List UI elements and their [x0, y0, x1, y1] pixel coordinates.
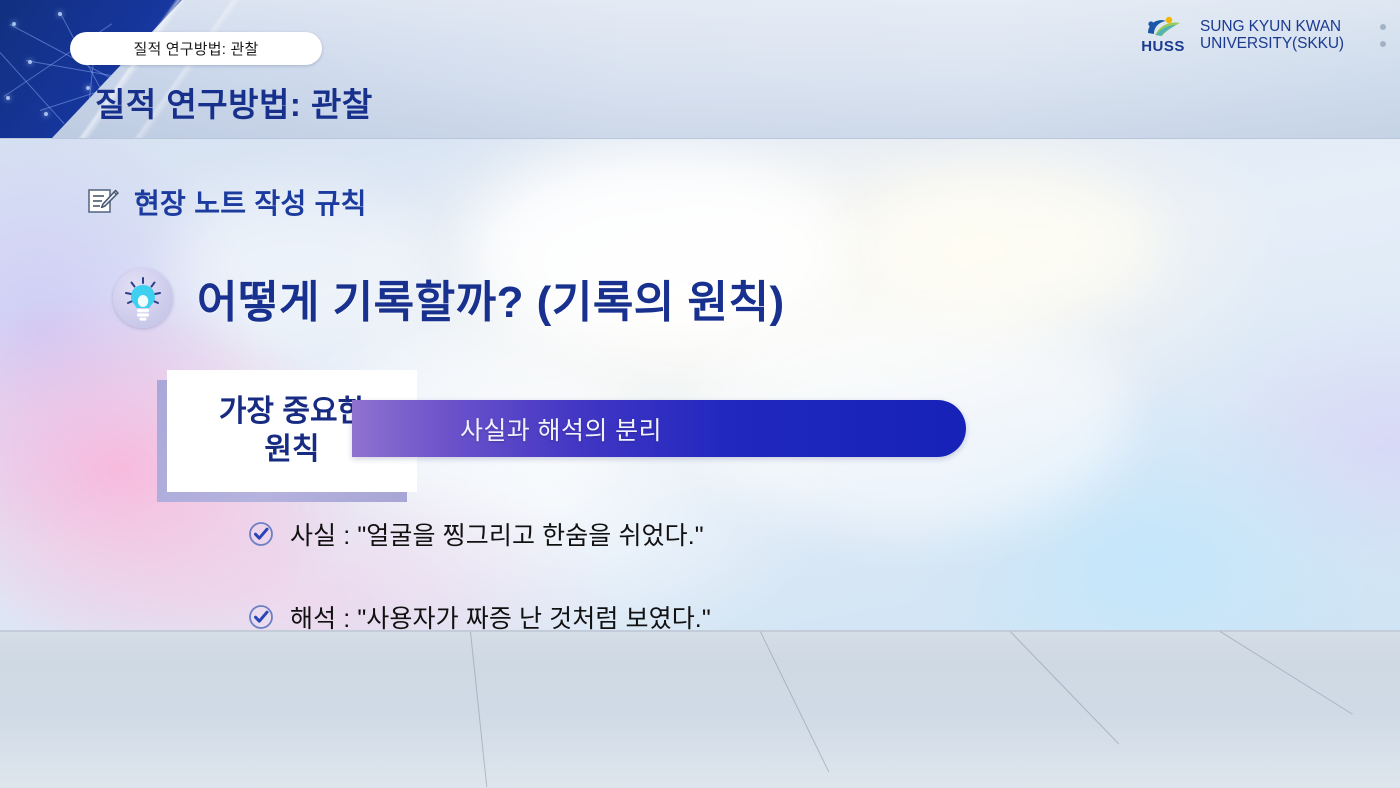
logo-mark: HUSS — [1136, 16, 1190, 54]
main-title-row: 어떻게 기록할까? (기록의 원칙) — [113, 266, 785, 330]
list-item-label: 사실 : "얼굴을 찡그리고 한숨을 쉬었다." — [290, 516, 704, 552]
principle-banner: 사실과 해석의 분리 — [352, 400, 966, 457]
breadcrumb-label: 질적 연구방법: 관찰 — [133, 38, 258, 59]
list-item-label: 해석 : "사용자가 짜증 난 것처럼 보였다." — [290, 599, 711, 635]
section-heading-label: 현장 노트 작성 규칙 — [134, 182, 367, 222]
principle-card-text: 가장 중요한 원칙 — [219, 393, 365, 470]
check-circle-icon — [248, 604, 274, 630]
principle-banner-label: 사실과 해석의 분리 — [460, 411, 662, 447]
university-logo: HUSS SUNG KYUN KWAN UNIVERSITY(SKKU) — [1136, 16, 1344, 54]
background-floor — [0, 630, 1400, 788]
main-title-label: 어떻게 기록할까? (기록의 원칙) — [197, 266, 785, 330]
logo-line-1: SUNG KYUN KWAN — [1200, 18, 1344, 35]
principle-card-line-1: 가장 중요한 — [219, 395, 365, 428]
section-heading: 현장 노트 작성 규칙 — [86, 182, 367, 222]
page-title: 질적 연구방법: 관찰 — [95, 78, 373, 126]
logo-line-2: UNIVERSITY(SKKU) — [1200, 35, 1344, 52]
lightbulb-icon — [113, 268, 173, 328]
breadcrumb[interactable]: 질적 연구방법: 관찰 — [70, 32, 322, 65]
list-item: 사실 : "얼굴을 찡그리고 한숨을 쉬었다." — [248, 516, 711, 552]
slide-header-band: 질적 연구방법: 관찰 질적 연구방법: 관찰 HUSS SUNG KYU — [0, 0, 1400, 139]
list-item: 해석 : "사용자가 짜증 난 것처럼 보였다." — [248, 599, 711, 635]
principle-card-line-2: 원칙 — [264, 433, 319, 466]
cloud-shape — [860, 170, 1160, 320]
check-circle-icon — [248, 521, 274, 547]
memo-pencil-icon — [86, 185, 120, 219]
huss-swoosh-icon — [1142, 16, 1184, 38]
presentation-slide: 질적 연구방법: 관찰 질적 연구방법: 관찰 HUSS SUNG KYU — [0, 0, 1400, 788]
logo-wordmark: HUSS — [1141, 39, 1185, 54]
bullet-list: 사실 : "얼굴을 찡그리고 한숨을 쉬었다." 해석 : "사용자가 짜증 난… — [248, 516, 711, 635]
logo-university-text: SUNG KYUN KWAN UNIVERSITY(SKKU) — [1200, 18, 1344, 53]
dot-indicator-icon — [1380, 24, 1386, 47]
